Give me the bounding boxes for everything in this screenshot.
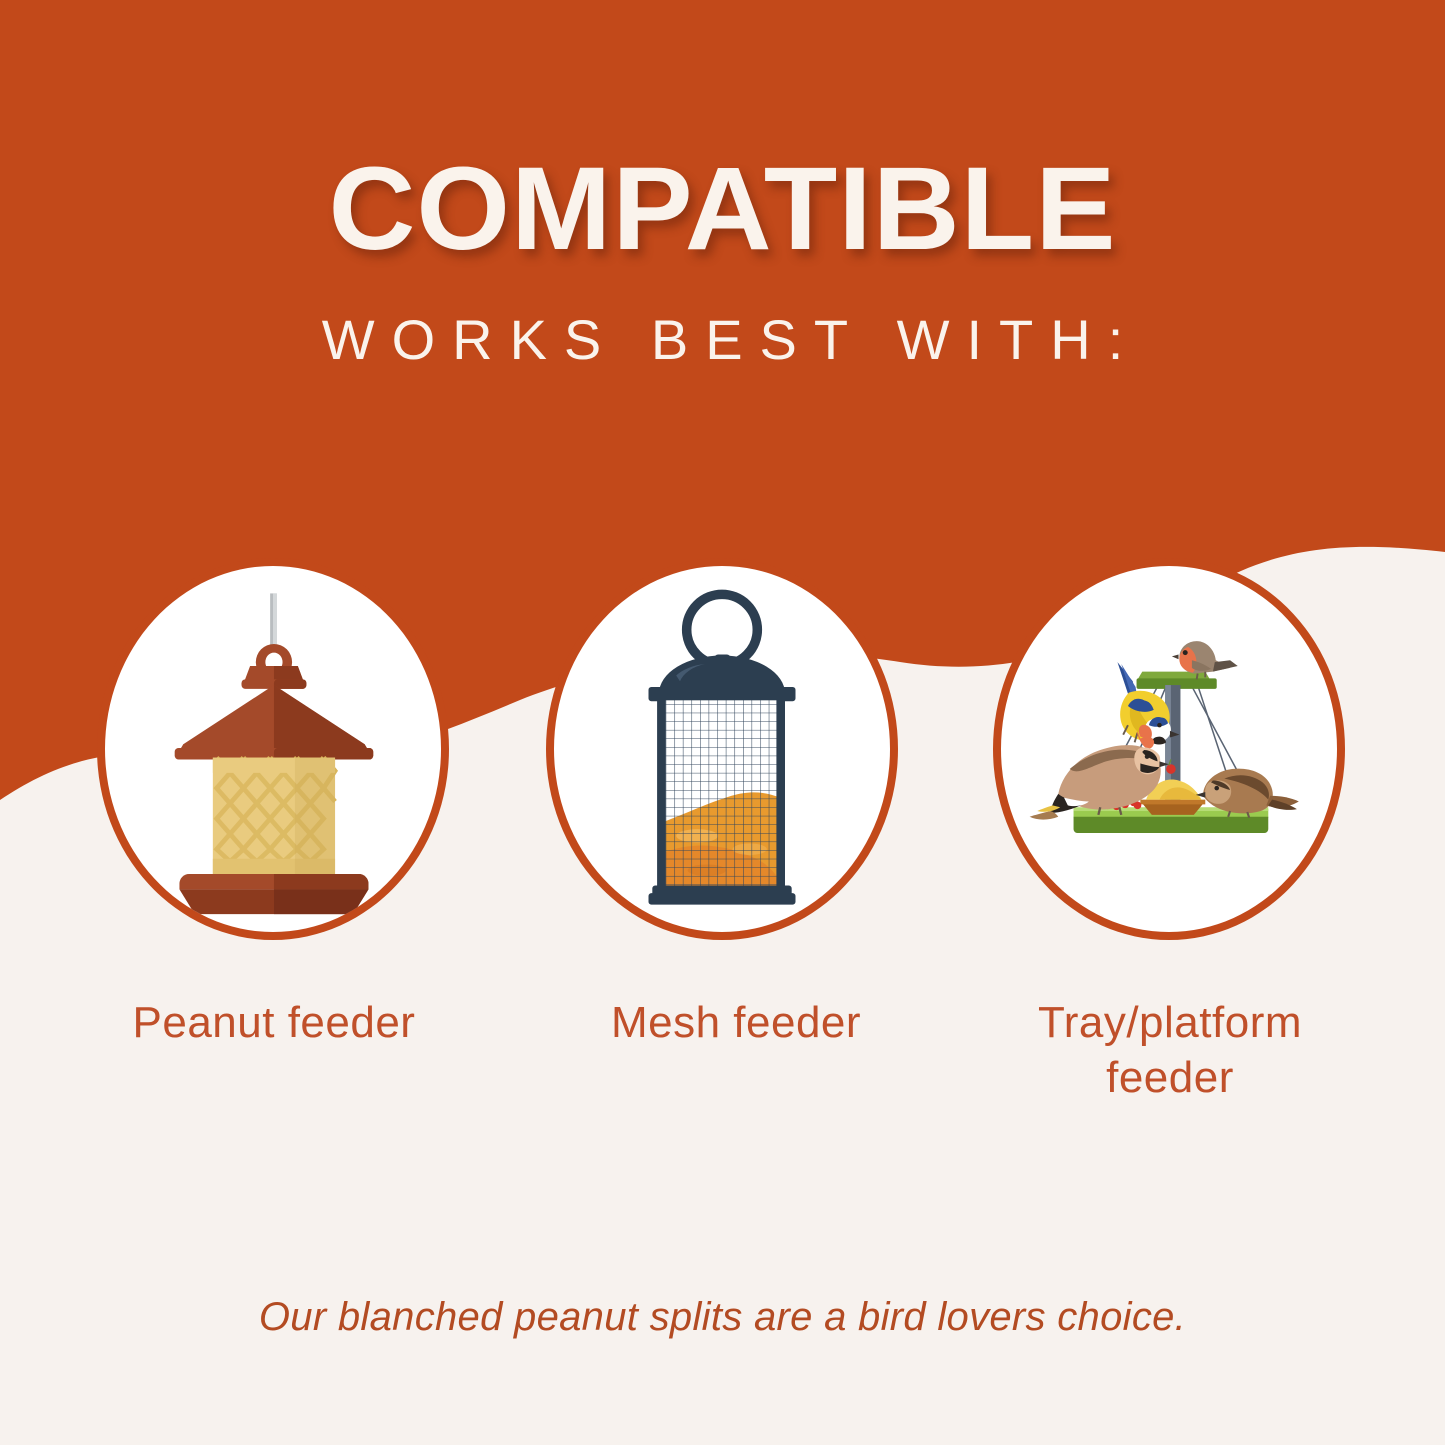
feeder-circle-tray[interactable] [993, 558, 1345, 940]
promo-graphic: COMPATIBLE WORKS BEST WITH: [0, 0, 1445, 1445]
page-title: COMPATIBLE [0, 150, 1445, 268]
feeder-label-row: Peanut feeder Mesh feeder Tray/platform … [0, 995, 1445, 1155]
feeder-circle-peanut[interactable] [97, 558, 449, 940]
mesh-feeder-icon [554, 566, 890, 932]
feeder-label-mesh: Mesh feeder [546, 995, 926, 1050]
peanut-feeder-icon [105, 566, 441, 932]
feeder-label-peanut: Peanut feeder [84, 995, 464, 1050]
page-subtitle: WORKS BEST WITH: [0, 312, 1445, 368]
feeder-label-tray: Tray/platform feeder [975, 995, 1365, 1105]
feeder-label-tray-line2: feeder [1106, 1053, 1234, 1102]
feeder-icon-row [0, 558, 1445, 958]
tray-platform-feeder-icon [1001, 566, 1337, 932]
feeder-label-tray-line1: Tray/platform [1038, 998, 1302, 1047]
feeder-circle-mesh[interactable] [546, 558, 898, 940]
footer-tagline: Our blanched peanut splits are a bird lo… [0, 1295, 1445, 1340]
